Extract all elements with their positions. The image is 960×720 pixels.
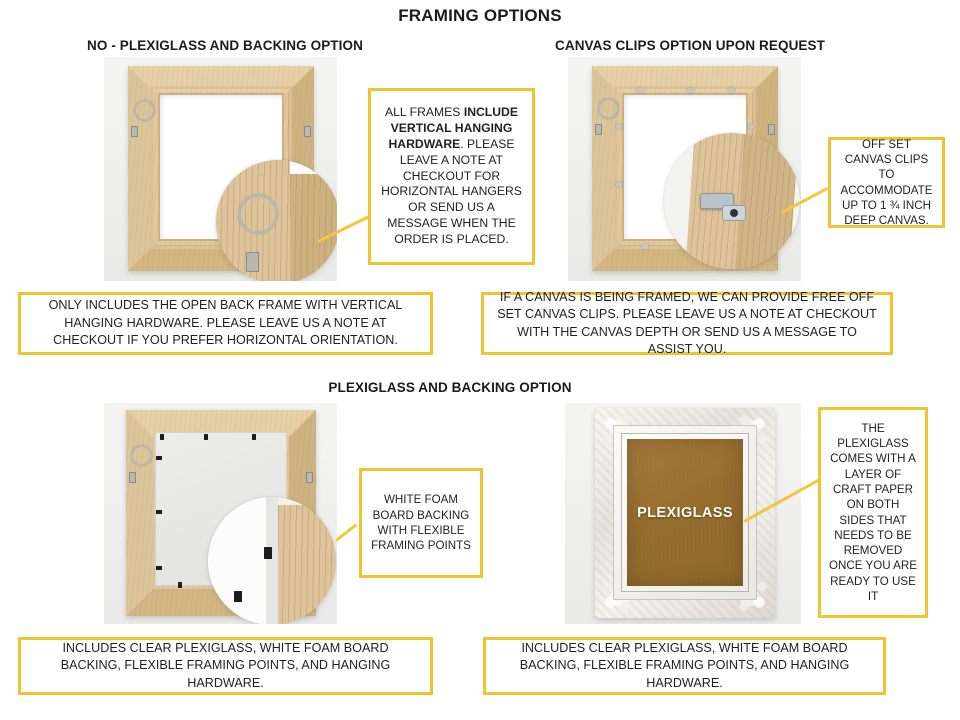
- callout-text-part-2: . PLEASE LEAVE A NOTE AT CHECKOUT FOR HO…: [381, 137, 522, 246]
- magnified-foam-board: [208, 497, 266, 624]
- canvas-clip-icon: [637, 88, 643, 93]
- canvas-clip-icon: [748, 124, 754, 129]
- section-heading-canvas-clips: CANVAS CLIPS OPTION UPON REQUEST: [480, 38, 900, 53]
- caption-plexiglass-craft-paper-text: INCLUDES CLEAR PLEXIGLASS, WHITE FOAM BO…: [496, 640, 873, 692]
- framing-options-infographic: FRAMING OPTIONS NO - PLEXIGLASS AND BACK…: [0, 0, 960, 720]
- d-ring-hanger-icon: [598, 98, 619, 119]
- framing-point-icon: [252, 434, 256, 440]
- magnifier-inset-canvas-clip: [664, 133, 800, 269]
- section-heading-plexiglass-backing: PLEXIGLASS AND BACKING OPTION: [250, 380, 650, 395]
- magnified-canvas-edge: [735, 133, 799, 269]
- callout-hanging-hardware: ALL FRAMES INCLUDE VERTICAL HANGING HARD…: [368, 88, 535, 265]
- canvas-clip-icon: [687, 88, 693, 93]
- caption-open-back-frame: ONLY INCLUDES THE OPEN BACK FRAME WITH V…: [18, 292, 433, 355]
- caption-plexiglass-backing: INCLUDES CLEAR PLEXIGLASS, WHITE FOAM BO…: [18, 637, 433, 695]
- callout-craft-paper: THE PLEXIGLASS COMES WITH A LAYER OF CRA…: [818, 407, 928, 618]
- d-ring-hanger-icon: [134, 100, 155, 121]
- callout-foam-board-backing: WHITE FOAM BOARD BACKING WITH FLEXIBLE F…: [359, 468, 483, 578]
- hanging-hardware-left-icon: [129, 472, 136, 483]
- canvas-clip-icon: [728, 88, 734, 93]
- photo-open-back-frame: [104, 57, 337, 281]
- framing-point-icon: [156, 456, 162, 460]
- magnifier-inset-hanging-hardware: [216, 160, 337, 281]
- canvas-clip-icon: [616, 124, 622, 129]
- magnified-backdrop: [290, 160, 337, 174]
- magnified-clip-screw-icon: [730, 209, 738, 217]
- framing-point-icon: [156, 566, 162, 570]
- magnified-frame-rail: [278, 505, 336, 624]
- plexiglass-label: PLEXIGLASS: [627, 505, 743, 521]
- callout-text-part-1: ALL FRAMES: [385, 105, 464, 119]
- d-ring-hanger-icon: [131, 445, 152, 466]
- hanging-hardware-right-icon: [306, 472, 313, 483]
- magnified-board-edge: [266, 497, 278, 624]
- section-heading-no-plexiglass: NO - PLEXIGLASS AND BACKING OPTION: [20, 38, 430, 53]
- photo-ornate-frame-plexiglass: PLEXIGLASS: [565, 403, 801, 624]
- hanging-hardware-left-icon: [131, 126, 138, 137]
- page-title: FRAMING OPTIONS: [0, 6, 960, 26]
- caption-canvas-clips-text: IF A CANVAS IS BEING FRAMED, WE CAN PROV…: [494, 289, 880, 359]
- callout-foam-board-backing-text: WHITE FOAM BOARD BACKING WITH FLEXIBLE F…: [369, 492, 473, 553]
- hanging-hardware-right-icon: [304, 126, 311, 137]
- framing-point-icon: [160, 434, 164, 440]
- callout-offset-canvas-clips-text: OFF SET CANVAS CLIPS TO ACCOMMODATE UP T…: [838, 137, 935, 229]
- magnified-d-ring-icon: [238, 194, 278, 234]
- canvas-clip-icon: [616, 182, 622, 187]
- magnifier-inset-framing-points: [208, 497, 336, 624]
- caption-canvas-clips: IF A CANVAS IS BEING FRAMED, WE CAN PROV…: [481, 292, 893, 355]
- canvas-clip-icon: [642, 244, 648, 249]
- caption-open-back-frame-text: ONLY INCLUDES THE OPEN BACK FRAME WITH V…: [31, 297, 420, 349]
- ornate-silver-frame: PLEXIGLASS: [595, 408, 775, 618]
- framing-point-icon: [178, 582, 182, 588]
- framing-point-icon: [156, 510, 162, 514]
- photo-foam-board-backing: [104, 403, 337, 624]
- magnified-frame-edge: [290, 174, 337, 281]
- magnified-framing-point-icon: [264, 547, 272, 559]
- magnified-framing-point-icon: [234, 591, 242, 602]
- framing-point-icon: [204, 434, 208, 440]
- craft-paper-covered-plexiglass: PLEXIGLASS: [627, 439, 743, 586]
- caption-plexiglass-craft-paper: INCLUDES CLEAR PLEXIGLASS, WHITE FOAM BO…: [483, 637, 886, 695]
- connector-line-3: [335, 523, 357, 541]
- callout-offset-canvas-clips: OFF SET CANVAS CLIPS TO ACCOMMODATE UP T…: [828, 137, 945, 228]
- caption-plexiglass-backing-text: INCLUDES CLEAR PLEXIGLASS, WHITE FOAM BO…: [31, 640, 420, 692]
- photo-canvas-clips-frame: [568, 57, 801, 281]
- magnified-hardware-plate-icon: [246, 252, 259, 272]
- callout-craft-paper-text: THE PLEXIGLASS COMES WITH A LAYER OF CRA…: [828, 421, 918, 605]
- callout-hanging-hardware-text: ALL FRAMES INCLUDE VERTICAL HANGING HARD…: [378, 105, 525, 248]
- hanging-hardware-left-icon: [595, 124, 602, 135]
